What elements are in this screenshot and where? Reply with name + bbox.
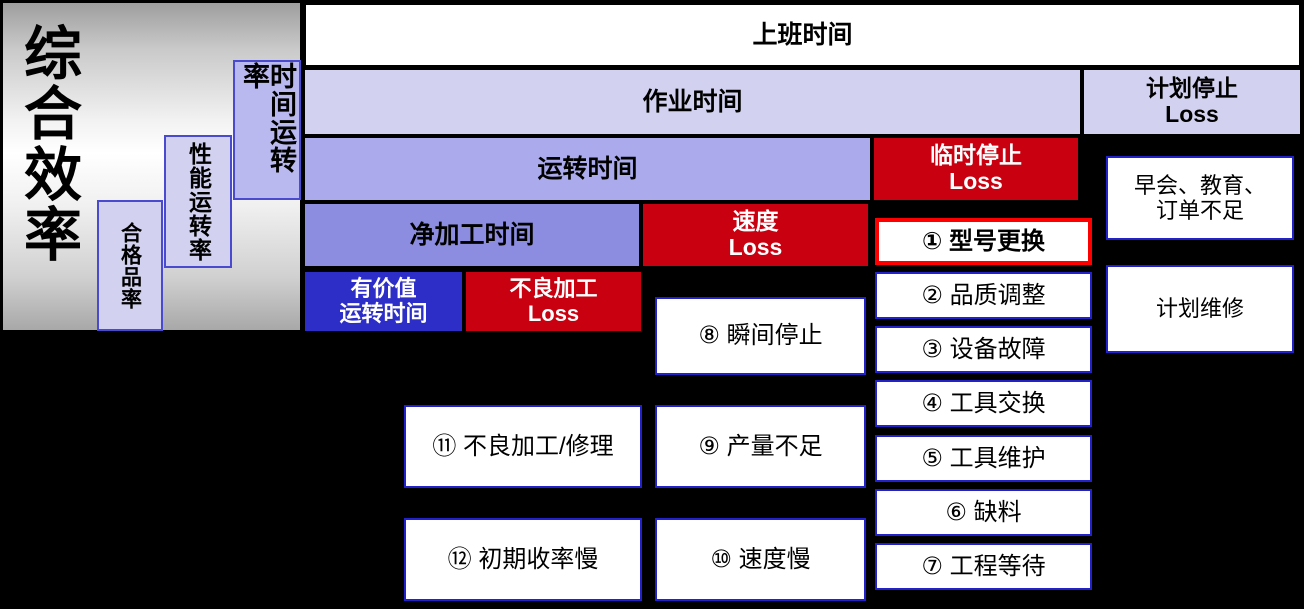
bar-value-added-running-time: 有价值 运转时间	[303, 270, 464, 333]
note-planned-maintenance[interactable]: 计划维修	[1106, 265, 1294, 353]
loss-item-2-quality-adjustment[interactable]: ② 品质调整	[875, 272, 1092, 319]
bar-work-time: 上班时间	[303, 2, 1302, 68]
bar-planned-stop-loss: 计划停止 Loss	[1082, 68, 1302, 136]
loss-item-6-material-shortage[interactable]: ⑥ 缺料	[875, 489, 1092, 536]
bar-net-processing-time: 净加工时间	[303, 202, 641, 268]
loss-item-4-tool-change[interactable]: ④ 工具交换	[875, 380, 1092, 427]
loss-item-8-momentary-stop[interactable]: ⑧ 瞬间停止	[655, 297, 866, 375]
loss-item-11-defect-rework[interactable]: ⑪ 不良加工/修理	[404, 405, 642, 488]
loss-item-10-slow-speed[interactable]: ⑩ 速度慢	[655, 518, 866, 601]
bar-operating-time: 作业时间	[303, 68, 1082, 136]
rate-label-quality: 合格品率	[120, 222, 141, 310]
oee-title: 综合 效率	[17, 25, 91, 315]
loss-item-1-model-change[interactable]: ① 型号更换	[875, 218, 1092, 265]
bar-running-time: 运转时间	[303, 136, 872, 202]
bar-speed-loss: 速度 Loss	[641, 202, 870, 268]
rate-box-time-operating: 时间运转率	[233, 60, 301, 200]
loss-item-12-slow-initial-yield[interactable]: ⑫ 初期收率慢	[404, 518, 642, 601]
loss-item-3-equipment-failure[interactable]: ③ 设备故障	[875, 326, 1092, 373]
loss-item-7-process-waiting[interactable]: ⑦ 工程等待	[875, 543, 1092, 590]
rate-box-quality: 合格品率	[97, 200, 163, 331]
bar-defect-processing-loss: 不良加工 Loss	[464, 270, 643, 333]
note-morning-meeting-education-order-shortage[interactable]: 早会、教育、 订单不足	[1106, 156, 1294, 240]
oee-loss-structure-diagram: 综合 效率 时间运转率 性能运转率 合格品率 上班时间 作业时间 计划停止 Lo…	[0, 0, 1304, 609]
rate-label-time-operating: 时间运转率	[240, 62, 294, 198]
rate-label-performance-operating: 性能运转率	[187, 142, 210, 262]
bar-temporary-stop-loss: 临时停止 Loss	[872, 136, 1080, 202]
loss-item-9-output-shortage[interactable]: ⑨ 产量不足	[655, 405, 866, 488]
rate-box-performance-operating: 性能运转率	[164, 135, 232, 268]
loss-item-5-tool-maintenance[interactable]: ⑤ 工具维护	[875, 435, 1092, 482]
